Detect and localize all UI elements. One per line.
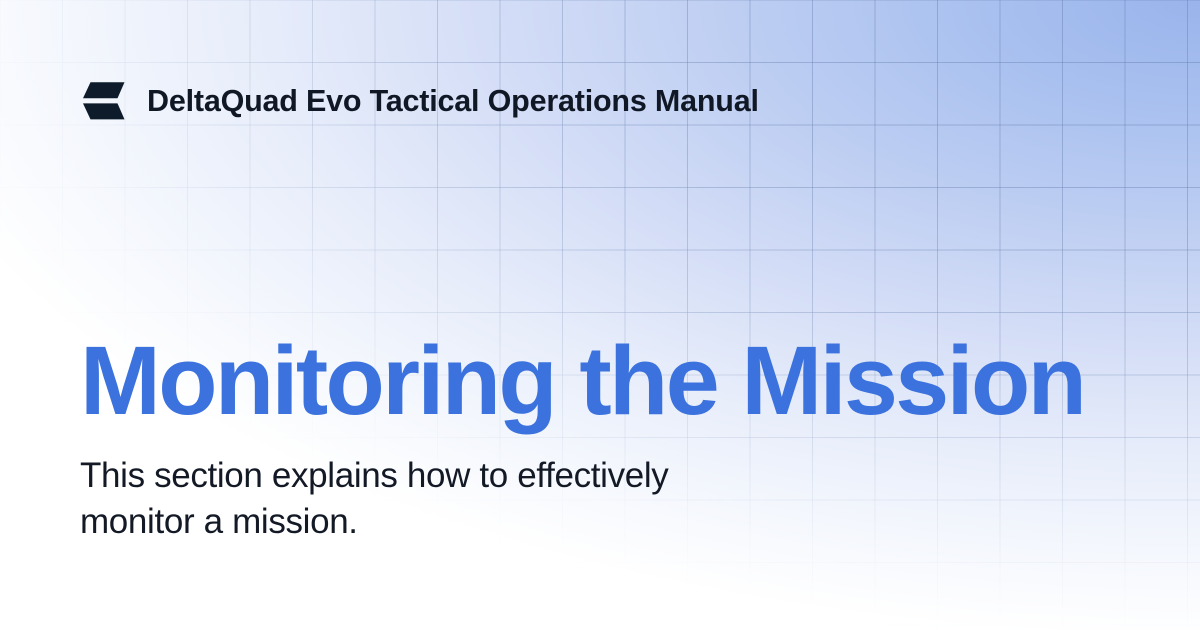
- brand-title: DeltaQuad Evo Tactical Operations Manual: [147, 86, 759, 117]
- page-title: Monitoring the Mission: [80, 332, 1120, 429]
- page-subtitle: This section explains how to effectively…: [80, 453, 780, 544]
- hero-content: DeltaQuad Evo Tactical Operations Manual…: [0, 0, 1200, 630]
- hero-banner: DeltaQuad Evo Tactical Operations Manual…: [0, 0, 1200, 630]
- deltaquad-logo-icon: [80, 80, 128, 122]
- brand-header: DeltaQuad Evo Tactical Operations Manual: [80, 80, 759, 122]
- headline-block: Monitoring the Mission This section expl…: [80, 332, 1120, 544]
